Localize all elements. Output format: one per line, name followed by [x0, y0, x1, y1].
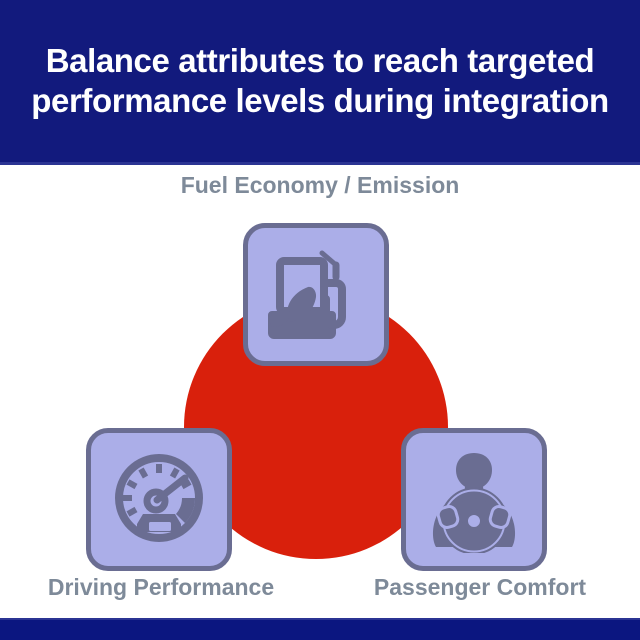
- driver-steering-wheel-icon: [421, 447, 527, 553]
- node-label-driving-performance: Driving Performance: [0, 574, 322, 600]
- speedometer-icon: [107, 448, 211, 552]
- node-tile-passenger-comfort[interactable]: [401, 428, 547, 571]
- node-tile-fuel-economy[interactable]: [243, 223, 389, 366]
- footer-bar: [0, 620, 640, 640]
- node-label-fuel-economy: Fuel Economy / Emission: [0, 172, 640, 198]
- header-banner: Balance attributes to reach targeted per…: [0, 0, 640, 162]
- slide-canvas: Balance attributes to reach targeted per…: [0, 0, 640, 640]
- header-divider: [0, 162, 640, 165]
- page-title: Balance attributes to reach targeted per…: [9, 41, 631, 121]
- node-label-passenger-comfort: Passenger Comfort: [330, 574, 630, 600]
- fuel-pump-leaf-icon: [264, 243, 368, 347]
- node-tile-driving-performance[interactable]: [86, 428, 232, 571]
